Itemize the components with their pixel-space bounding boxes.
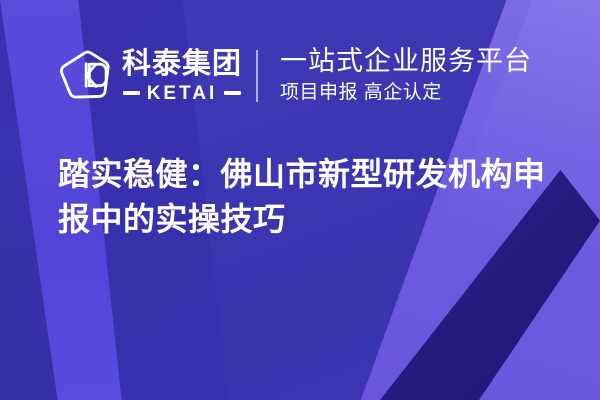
banner-header: 科泰集团 KETAI 一站式企业服务平台 项目申报 高企认定 <box>0 38 600 114</box>
header-vertical-divider <box>256 50 258 102</box>
page-title: 踏实稳健：佛山市新型研发机构申 报中的实操技巧 <box>58 152 558 243</box>
brand-dash-left-icon <box>123 91 140 95</box>
tagline-block: 一站式企业服务平台 项目申报 高企认定 <box>280 46 532 106</box>
brand-name-en: KETAI <box>147 84 218 103</box>
brand-lockup: 科泰集团 KETAI <box>58 49 242 103</box>
page-title-line-2: 报中的实操技巧 <box>58 197 558 242</box>
brand-name-en-row: KETAI <box>123 84 242 103</box>
page-title-line-1: 踏实稳健：佛山市新型研发机构申 <box>58 152 558 197</box>
promo-banner: 科泰集团 KETAI 一站式企业服务平台 项目申报 高企认定 踏实稳健：佛山市新… <box>0 0 600 400</box>
tagline-sub-text: 项目申报 高企认定 <box>280 81 532 106</box>
brand-wordmark: 科泰集团 KETAI <box>122 49 242 102</box>
ketai-diamond-monogram-logo-icon <box>58 49 112 103</box>
brand-dash-right-icon <box>224 91 241 95</box>
brand-name-cn: 科泰集团 <box>122 49 242 79</box>
tagline-main-text: 一站式企业服务平台 <box>280 46 532 78</box>
